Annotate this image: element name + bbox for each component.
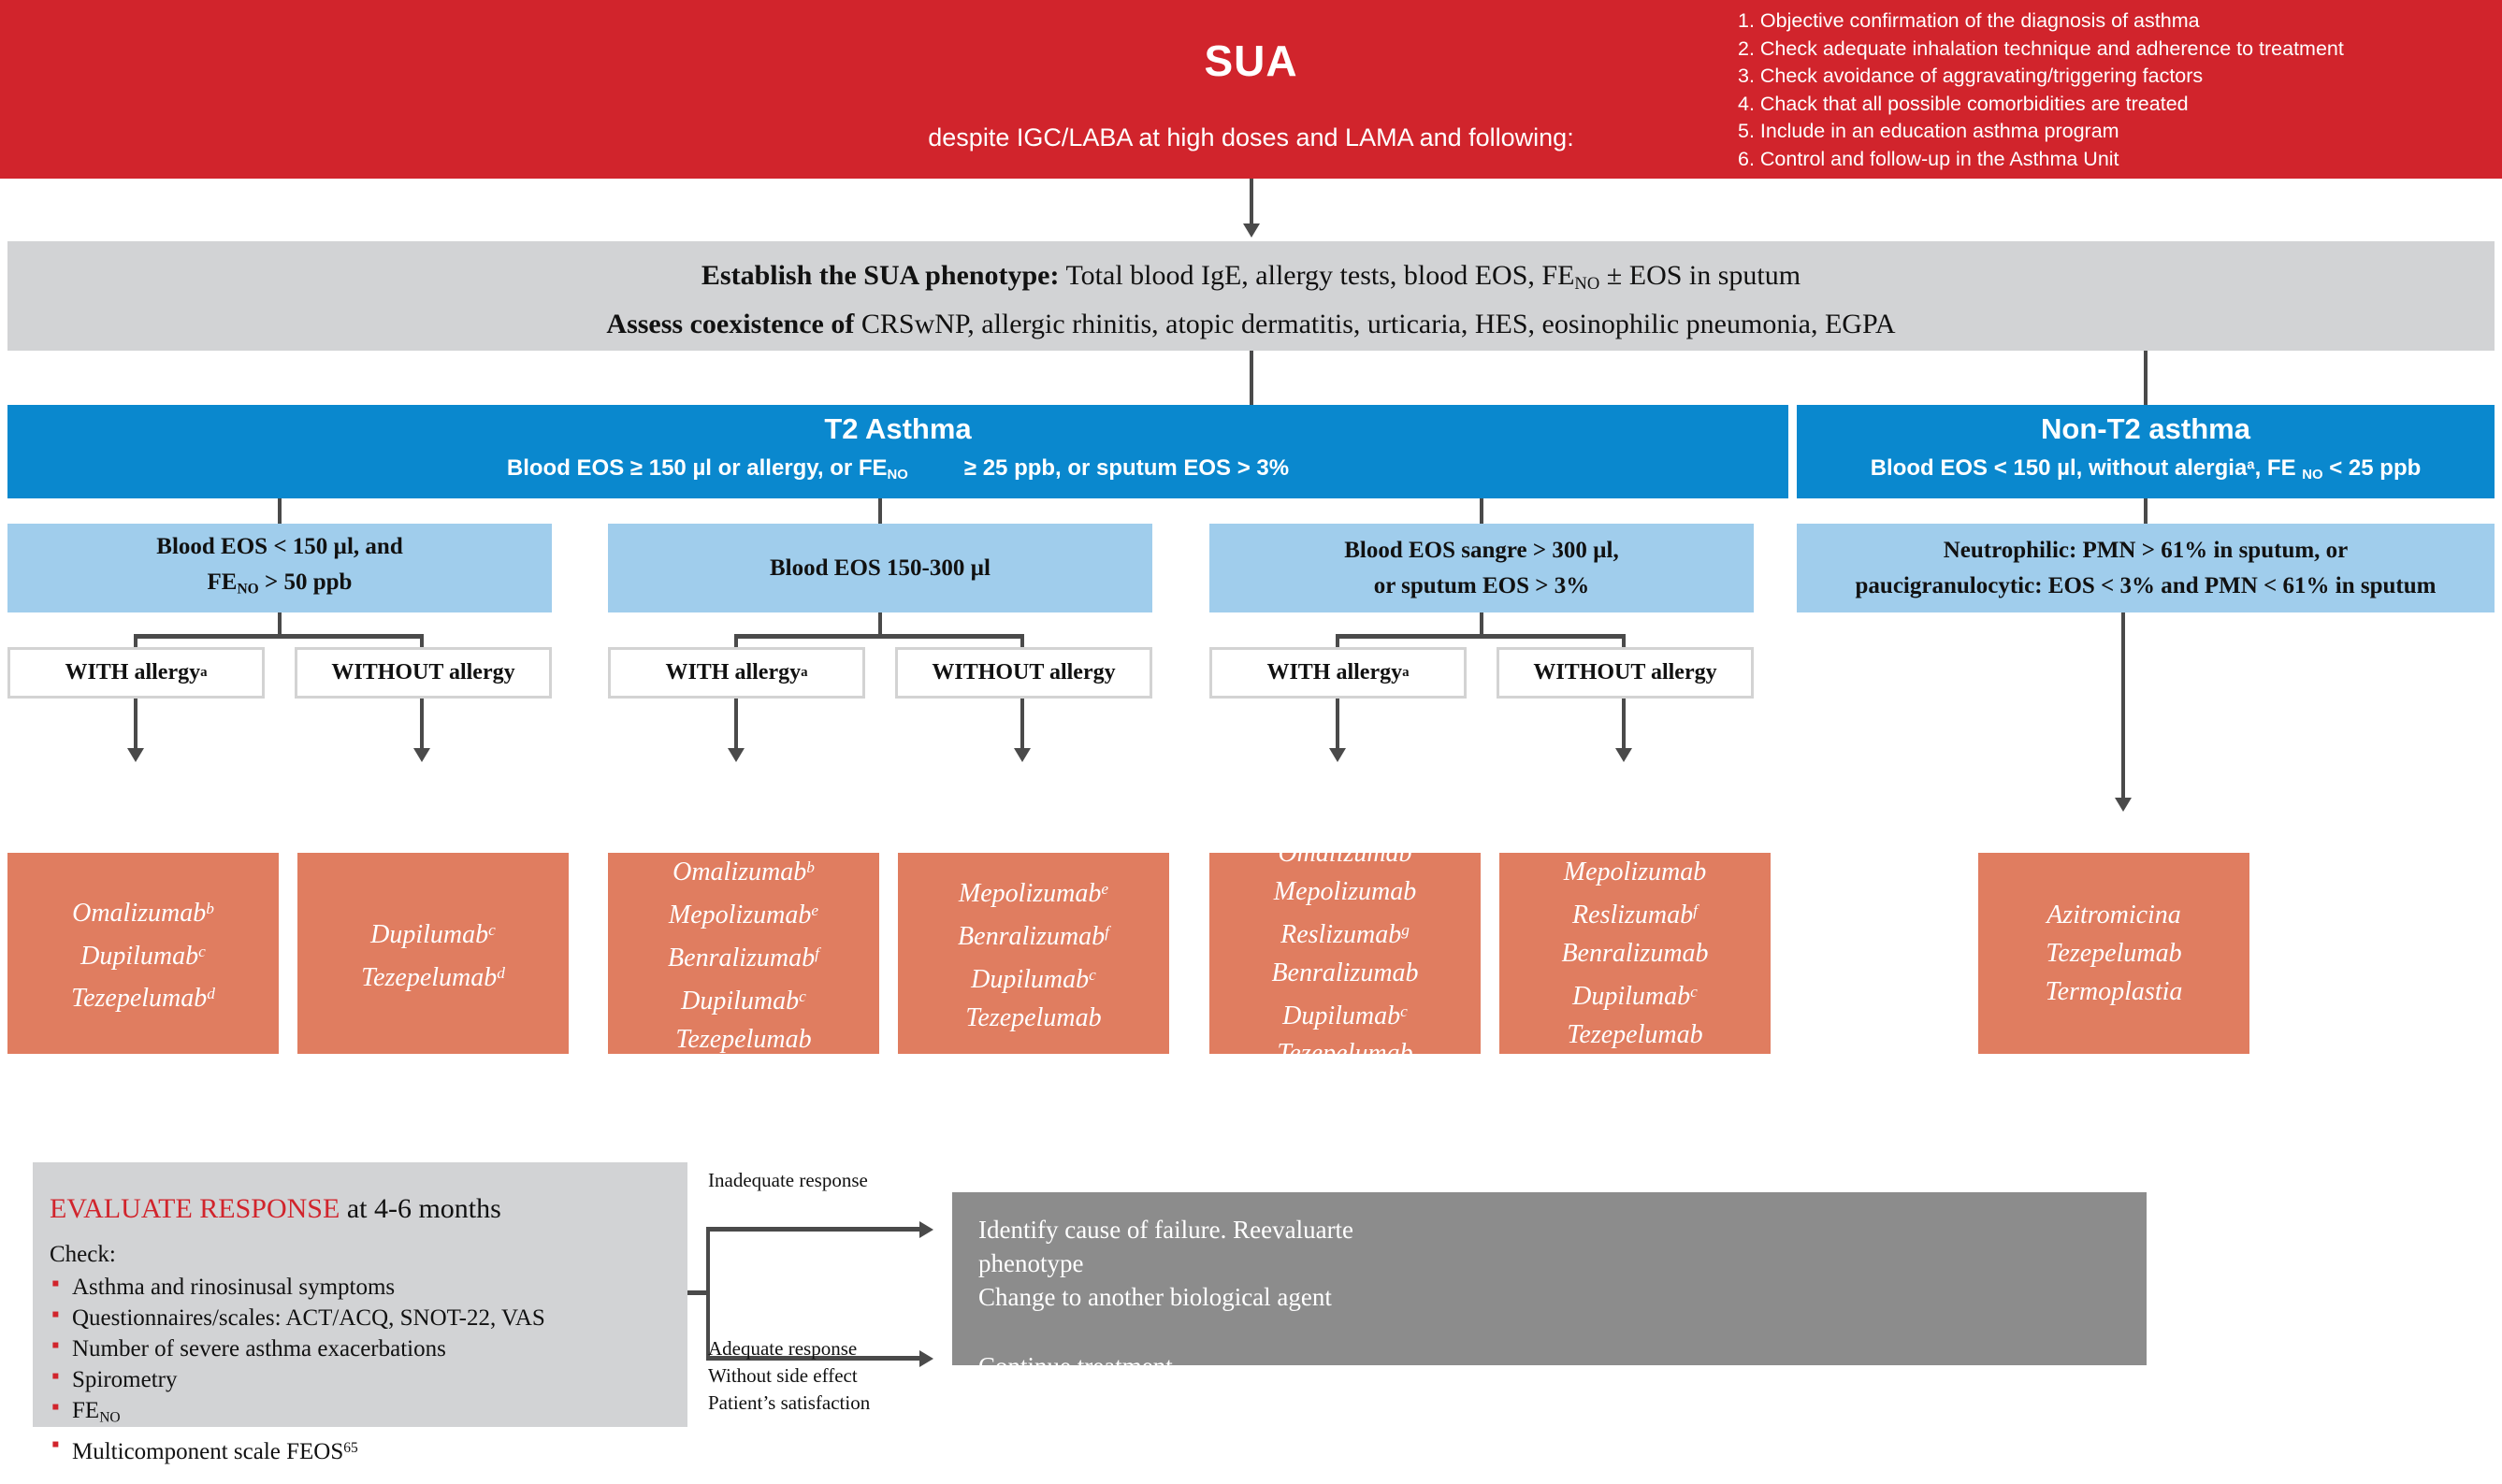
evaluate-item: Multicomponent scale FEOS65 bbox=[50, 1433, 687, 1467]
treatment-box-5: Omalizumab Mepolizumab Reslizumabg Benra… bbox=[1209, 853, 1481, 1054]
non-t2-asthma-title: Non-T2 asthma bbox=[1797, 412, 2495, 446]
treatment-sup: c bbox=[488, 921, 496, 939]
treatment-sup: f bbox=[1105, 923, 1109, 941]
treatment-item: Tezepelumab bbox=[1567, 1016, 1702, 1054]
criteria-1-line-2: FENO > 50 ppb bbox=[208, 565, 353, 607]
treatment-name: Mepolizumab bbox=[959, 879, 1101, 908]
treatment-item: Omalizumabb bbox=[72, 889, 214, 932]
arrow-w4-icon bbox=[1014, 748, 1031, 762]
treatment-item: Tezepelumab bbox=[2046, 934, 2181, 973]
evaluate-title-rest: at 4-6 months bbox=[340, 1193, 501, 1224]
treatment-item: Tezepelumabd bbox=[361, 954, 505, 997]
connector-crit2-down bbox=[878, 612, 882, 636]
non-t2-sub-b: , FE bbox=[2255, 455, 2303, 481]
evaluate-title-highlight: EVALUATE RESPONSE bbox=[50, 1193, 340, 1224]
connector-crit3-bar bbox=[1336, 634, 1626, 639]
treatment-item: Mepolizumab bbox=[1274, 872, 1416, 911]
treatment-box-1: Omalizumabb Dupilumabc Tezepelumabd bbox=[7, 853, 279, 1054]
treatment-name: Mepolizumab bbox=[669, 900, 811, 929]
header-checklist: 1. Objective confirmation of the diagnos… bbox=[1738, 7, 2486, 173]
treatment-name: Tezepelumab bbox=[71, 984, 207, 1013]
treatment-item: Benralizumab bbox=[1271, 954, 1418, 992]
arrow-crit4-icon bbox=[2115, 798, 2132, 812]
outcome-box: Identify cause of failure. Reevaluarte p… bbox=[952, 1192, 2147, 1365]
treatment-name: Benralizumab bbox=[1561, 939, 1708, 968]
t2-sub-sub: NO bbox=[888, 468, 908, 483]
evaluate-check-label: Check: bbox=[50, 1242, 687, 1268]
treatment-name: Benralizumab bbox=[1271, 958, 1418, 987]
treatment-sup: f bbox=[1693, 901, 1698, 919]
treatment-item: Omalizumabb bbox=[673, 848, 815, 891]
connector-crit1-down bbox=[278, 612, 282, 636]
arrow-w3-icon bbox=[728, 748, 745, 762]
criteria-2-line-1: Blood EOS 150-300 µl bbox=[770, 551, 991, 586]
treatment-name: Tezepelumab bbox=[361, 962, 497, 991]
adequate-line-2: Without side effect bbox=[708, 1362, 870, 1390]
evaluate-item5-pre: FE bbox=[72, 1398, 99, 1423]
outcome-row-3: Change to another biological agent bbox=[978, 1280, 2147, 1314]
allergy-box-4-label: WITHOUT allergy bbox=[932, 660, 1115, 685]
treatment-box-4: Mepolizumabe Benralizumabf Dupilumabc Te… bbox=[898, 853, 1169, 1054]
checklist-item: 2. Check adequate inhalation technique a… bbox=[1738, 36, 2486, 64]
treatment-name: Tezepelumab bbox=[675, 1025, 811, 1054]
treatment-sup: d bbox=[497, 964, 505, 982]
evaluate-item: Spirometry bbox=[50, 1364, 687, 1395]
connector-eval-out bbox=[687, 1290, 708, 1295]
connector-t2-to-crit2 bbox=[878, 498, 882, 524]
evaluate-item: Number of severe asthma exacerbations bbox=[50, 1333, 687, 1364]
phenotype-line1-bold: Establish the SUA phenotype: bbox=[701, 260, 1060, 291]
allergy-box-1-sup: a bbox=[200, 665, 207, 681]
criteria-1-line2-sub: NO bbox=[237, 581, 258, 597]
allergy-box-1-label: WITH allergy bbox=[65, 660, 200, 685]
treatment-item: Reslizumabf bbox=[1572, 891, 1698, 934]
criteria-box-3: Blood EOS sangre > 300 µl, or sputum EOS… bbox=[1209, 524, 1754, 612]
outcome-row-4: Continue treatment bbox=[978, 1349, 2147, 1383]
treatment-box-7: Azitromicina Tezepelumab Termoplastia bbox=[1978, 853, 2249, 1054]
connector-crit4-down bbox=[2121, 612, 2125, 800]
allergy-box-without-1[interactable]: WITHOUT allergy bbox=[295, 647, 552, 699]
evaluate-title: EVALUATE RESPONSE at 4-6 months bbox=[50, 1193, 687, 1225]
treatment-item: Tezepelumab bbox=[965, 999, 1101, 1037]
criteria-1-line2-pre: FE bbox=[208, 569, 238, 595]
treatment-name: Mepolizumab bbox=[1274, 877, 1416, 906]
allergy-box-without-2[interactable]: WITHOUT allergy bbox=[895, 647, 1152, 699]
phenotype-line-1: Establish the SUA phenotype: Total blood… bbox=[7, 260, 2495, 295]
non-t2-sub-sup: a bbox=[2247, 457, 2254, 472]
header-banner: SUA despite IGC/LABA at high doses and L… bbox=[0, 0, 2502, 179]
connector-crit1-bar bbox=[134, 634, 424, 639]
criteria-3-line-2: or sputum EOS > 3% bbox=[1374, 569, 1590, 604]
treatment-name: Dupilumab bbox=[80, 941, 198, 970]
treatment-item: Tezepelumabd bbox=[71, 974, 215, 1017]
treatment-box-2: Dupilumabc Tezepelumabd bbox=[297, 853, 569, 1054]
allergy-box-with-2[interactable]: WITH allergya bbox=[608, 647, 865, 699]
treatment-item: Reslizumabg bbox=[1280, 911, 1410, 954]
treatment-item: Benralizumab bbox=[1561, 934, 1708, 973]
treatment-box-3: Omalizumabb Mepolizumabe Benralizumabf D… bbox=[608, 853, 879, 1054]
phenotype-band: Establish the SUA phenotype: Total blood… bbox=[7, 241, 2495, 351]
treatment-name: Dupilumab bbox=[681, 987, 799, 1016]
allergy-box-3-label: WITH allergy bbox=[665, 660, 801, 685]
connector-eval-inadequate bbox=[706, 1227, 921, 1232]
allergy-box-2-label: WITHOUT allergy bbox=[331, 660, 514, 685]
checklist-item: 5. Include in an education asthma progra… bbox=[1738, 118, 2486, 146]
evaluate-item: Asthma and rinosinusal symptoms bbox=[50, 1272, 687, 1303]
t2-sub-a: Blood EOS ≥ 150 µl or allergy, or FE bbox=[507, 455, 888, 481]
phenotype-line2-bold: Assess coexistence of bbox=[606, 309, 854, 339]
treatment-item: Mepolizumab bbox=[1564, 853, 1706, 891]
arrow-red-to-gray-icon bbox=[1243, 223, 1260, 238]
treatment-box-6: Mepolizumab Reslizumabf Benralizumab Dup… bbox=[1499, 853, 1771, 1054]
evaluate-checklist: Asthma and rinosinusal symptoms Question… bbox=[50, 1272, 687, 1467]
treatment-name: Omalizumab bbox=[673, 857, 806, 886]
allergy-box-without-3[interactable]: WITHOUT allergy bbox=[1497, 647, 1754, 699]
t2-asthma-title: T2 Asthma bbox=[7, 412, 1788, 446]
treatment-item: Dupilumabc bbox=[1572, 973, 1698, 1016]
treatment-name: Azitromicina bbox=[2046, 900, 2181, 929]
phenotype-line1-sub: NO bbox=[1574, 274, 1599, 294]
allergy-box-6-label: WITHOUT allergy bbox=[1533, 660, 1716, 685]
connector-nont2-to-crit4 bbox=[2144, 498, 2148, 524]
arrow-w6-icon bbox=[1615, 748, 1632, 762]
evaluate-item6-sup: 65 bbox=[343, 1440, 358, 1456]
treatment-sup: f bbox=[815, 944, 819, 962]
treatment-item: Tezepelumab bbox=[1277, 1034, 1412, 1073]
treatment-name: Omalizumab bbox=[1278, 839, 1411, 868]
treatment-item: Benralizumabf bbox=[668, 934, 819, 977]
connector-crit3-down bbox=[1480, 612, 1483, 636]
arrow-inadequate-icon bbox=[919, 1221, 933, 1238]
connector-w2-down bbox=[420, 699, 424, 750]
arrow-w5-icon bbox=[1329, 748, 1346, 762]
checklist-item: 4. Chack that all possible comorbidities… bbox=[1738, 91, 2486, 119]
treatment-name: Tezepelumab bbox=[1567, 1020, 1702, 1049]
connector-w6-down bbox=[1622, 699, 1626, 750]
treatment-item: Dupilumabc bbox=[681, 977, 806, 1020]
treatment-item: Omalizumab bbox=[1278, 834, 1411, 872]
treatment-name: Dupilumab bbox=[370, 920, 488, 949]
treatment-name: Reslizumab bbox=[1572, 900, 1693, 929]
treatment-sup: c bbox=[1400, 1002, 1408, 1020]
treatment-sup: d bbox=[207, 985, 215, 1002]
treatment-item: Mepolizumabe bbox=[669, 891, 818, 934]
allergy-box-5-label: WITH allergy bbox=[1266, 660, 1402, 685]
treatment-item: Azitromicina bbox=[2046, 896, 2181, 934]
criteria-4-line-1: Neutrophilic: PMN > 61% in sputum, or bbox=[1944, 533, 2349, 569]
outcome-row-1: Identify cause of failure. Reevaluarte bbox=[978, 1192, 2147, 1246]
phenotype-line1-rest-b: ± EOS in sputum bbox=[1599, 260, 1801, 291]
treatment-item: Dupilumabc bbox=[370, 911, 496, 954]
treatment-item: Dupilumabc bbox=[1282, 992, 1408, 1035]
adequate-line-1: Adequate response bbox=[708, 1335, 870, 1362]
adequate-line-3: Patient’s satisfaction bbox=[708, 1390, 870, 1417]
treatment-sup: b bbox=[806, 858, 815, 876]
connector-red-to-gray bbox=[1250, 179, 1253, 225]
treatment-name: Tezepelumab bbox=[965, 1003, 1101, 1032]
evaluate-item: FENO bbox=[50, 1395, 687, 1433]
outcome-row-2: phenotype bbox=[978, 1246, 2147, 1280]
connector-w5-down bbox=[1336, 699, 1339, 750]
treatment-item: Mepolizumabe bbox=[959, 870, 1108, 913]
phenotype-line-2: Assess coexistence of CRSwNP, allergic r… bbox=[7, 309, 2495, 340]
treatment-item: Tezepelumab bbox=[675, 1020, 811, 1059]
connector-gray-down bbox=[1250, 351, 1253, 405]
evaluate-item6-pre: Multicomponent scale FEOS bbox=[72, 1439, 343, 1464]
treatment-name: Mepolizumab bbox=[1564, 857, 1706, 886]
non-t2-sub-c: < 25 ppb bbox=[2323, 455, 2422, 481]
checklist-item: 3. Check avoidance of aggravating/trigge… bbox=[1738, 63, 2486, 91]
allergy-box-3-sup: a bbox=[801, 665, 807, 681]
treatment-name: Benralizumab bbox=[668, 944, 815, 973]
criteria-box-2: Blood EOS 150-300 µl bbox=[608, 524, 1152, 612]
t2-asthma-criteria: Blood EOS ≥ 150 µl or allergy, or FENO≥ … bbox=[7, 455, 1788, 483]
allergy-box-5-sup: a bbox=[1402, 665, 1409, 681]
label-adequate-response: Adequate response Without side effect Pa… bbox=[708, 1335, 870, 1417]
checklist-item: 1. Objective confirmation of the diagnos… bbox=[1738, 7, 2486, 36]
treatment-item: Benralizumabf bbox=[958, 913, 1109, 956]
connector-crit2-bar bbox=[734, 634, 1024, 639]
criteria-box-1: Blood EOS < 150 µl, and FENO > 50 ppb bbox=[7, 524, 552, 612]
treatment-item: Dupilumabc bbox=[80, 932, 206, 975]
non-t2-sub-sub: NO bbox=[2302, 468, 2322, 483]
label-inadequate-response: Inadequate response bbox=[708, 1167, 868, 1194]
treatment-item: Termoplastia bbox=[2046, 973, 2183, 1011]
connector-t2-to-crit1 bbox=[278, 498, 282, 524]
treatment-name: Omalizumab bbox=[72, 899, 206, 928]
treatment-name: Tezepelumab bbox=[1277, 1039, 1412, 1068]
checklist-item: 6. Control and follow-up in the Asthma U… bbox=[1738, 146, 2486, 174]
phenotype-line2-rest: CRSwNP, allergic rhinitis, atopic dermat… bbox=[854, 309, 1895, 339]
allergy-box-with-3[interactable]: WITH allergya bbox=[1209, 647, 1467, 699]
evaluate-item5-sub: NO bbox=[99, 1409, 120, 1425]
non-t2-asthma-criteria: Blood EOS < 150 µl, without alergiaa, FE… bbox=[1797, 455, 2495, 483]
treatment-sup: c bbox=[198, 943, 206, 960]
treatment-sup: c bbox=[1089, 966, 1096, 984]
arrow-w2-icon bbox=[413, 748, 430, 762]
connector-t2-to-crit3 bbox=[1480, 498, 1483, 524]
non-t2-sub-a: Blood EOS < 150 µl, without alergia bbox=[1871, 455, 2248, 481]
criteria-3-line-1: Blood EOS sangre > 300 µl, bbox=[1344, 533, 1619, 569]
criteria-box-4: Neutrophilic: PMN > 61% in sputum, or pa… bbox=[1797, 524, 2495, 612]
connector-w3-down bbox=[734, 699, 738, 750]
connector-w4-down bbox=[1020, 699, 1024, 750]
phenotype-line1-rest-a: Total blood IgE, allergy tests, blood EO… bbox=[1059, 260, 1574, 291]
connector-gray-to-nont2 bbox=[2144, 351, 2148, 405]
treatment-sup: e bbox=[1101, 880, 1108, 898]
criteria-4-line-2: paucigranulocytic: EOS < 3% and PMN < 61… bbox=[1856, 569, 2437, 604]
treatment-name: Tezepelumab bbox=[2046, 939, 2181, 968]
treatment-sup: g bbox=[1401, 921, 1410, 939]
criteria-1-line2-post: > 50 ppb bbox=[259, 569, 353, 595]
treatment-sup: e bbox=[811, 901, 818, 919]
arrow-adequate-icon bbox=[919, 1350, 933, 1367]
criteria-1-line-1: Blood EOS < 150 µl, and bbox=[156, 529, 402, 565]
treatment-name: Benralizumab bbox=[958, 922, 1105, 951]
treatment-name: Reslizumab bbox=[1280, 920, 1401, 949]
treatment-name: Dupilumab bbox=[1572, 982, 1690, 1011]
treatment-sup: b bbox=[206, 900, 214, 917]
arrow-w1-icon bbox=[127, 748, 144, 762]
treatment-name: Dupilumab bbox=[971, 965, 1089, 994]
t2-sub-b: ≥ 25 ppb, or sputum EOS > 3% bbox=[964, 455, 1289, 481]
treatment-name: Termoplastia bbox=[2046, 977, 2183, 1006]
treatment-item: Dupilumabc bbox=[971, 956, 1096, 999]
t2-asthma-band: T2 Asthma Blood EOS ≥ 150 µl or allergy,… bbox=[7, 405, 1788, 498]
evaluate-response-panel: EVALUATE RESPONSE at 4-6 months Check: A… bbox=[33, 1162, 687, 1427]
connector-w1-down bbox=[134, 699, 137, 750]
allergy-box-with-1[interactable]: WITH allergya bbox=[7, 647, 265, 699]
non-t2-asthma-band: Non-T2 asthma Blood EOS < 150 µl, withou… bbox=[1797, 405, 2495, 498]
evaluate-item: Questionnaires/scales: ACT/ACQ, SNOT-22,… bbox=[50, 1303, 687, 1333]
treatment-sup: c bbox=[799, 987, 806, 1005]
treatment-name: Dupilumab bbox=[1282, 1001, 1400, 1030]
treatment-sup: c bbox=[1690, 983, 1698, 1001]
